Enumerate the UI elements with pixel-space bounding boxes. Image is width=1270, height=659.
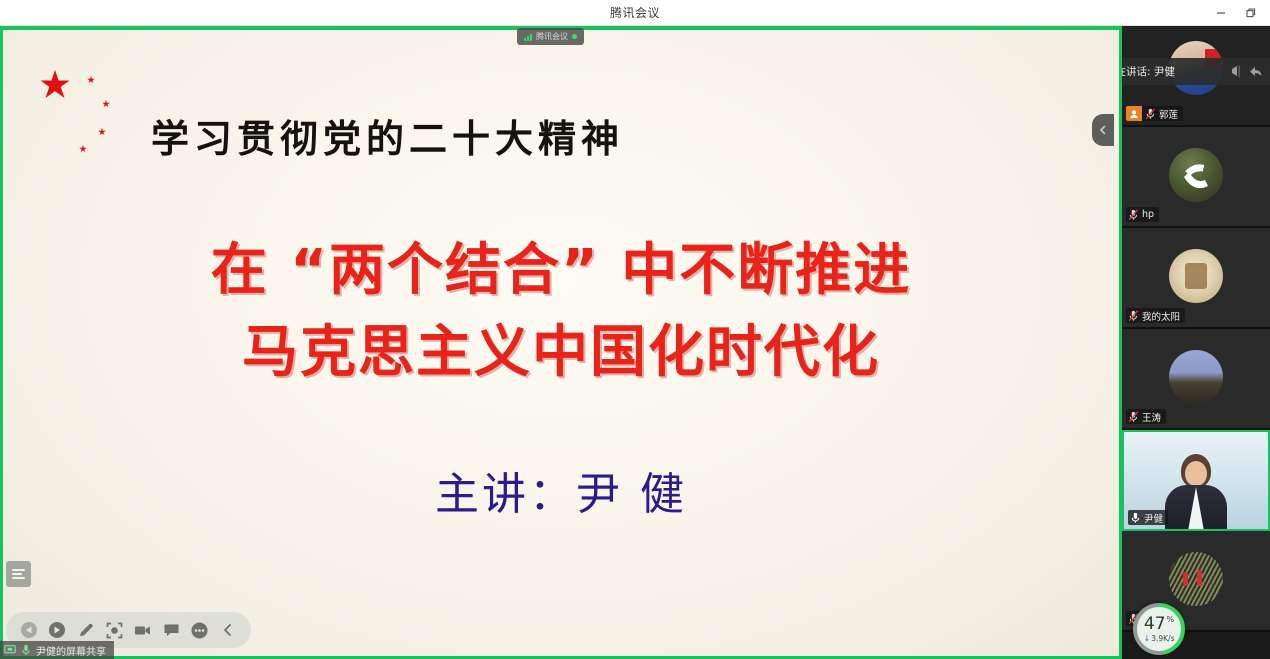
percent-symbol: % xyxy=(1167,615,1175,624)
participant-tile[interactable]: hp xyxy=(1122,127,1270,228)
video-camera-icon[interactable] xyxy=(130,616,156,644)
more-dots-icon[interactable] xyxy=(187,616,213,644)
shared-screen-region[interactable]: 学习贯彻党的二十大精神 在 “两个结合” 中不断推进 马克思主义中国化时代化 主… xyxy=(0,26,1122,659)
window-title: 腾讯会议 xyxy=(0,0,1270,26)
screen-share-status-label: 尹健的屏幕共享 xyxy=(36,643,106,658)
focus-frame-icon[interactable] xyxy=(102,616,128,644)
window-controls xyxy=(1206,0,1266,26)
restore-button[interactable] xyxy=(1236,1,1266,25)
minimize-button[interactable] xyxy=(1206,1,1236,25)
participant-name-chip: 王涛 xyxy=(1126,409,1166,424)
participant-name-chip: 尹健 xyxy=(1128,510,1168,525)
tencent-meeting-window: 腾讯会议 xyxy=(0,0,1270,659)
participant-tile[interactable]: 王涛 xyxy=(1122,329,1270,430)
microphone-muted-icon xyxy=(1128,310,1139,322)
meeting-pill-label: 腾讯会议 xyxy=(536,31,568,42)
slide-header-text: 学习贯彻党的二十大精神 xyxy=(151,108,624,163)
screen-share-icon xyxy=(4,644,16,656)
collapse-arrow-icon xyxy=(1230,65,1245,78)
participant-name-chip: 我的太阳 xyxy=(1126,308,1185,323)
participant-name-chip: 郭莲 xyxy=(1126,106,1183,121)
banner-arrow-controls[interactable] xyxy=(1230,65,1263,78)
list-menu-bars xyxy=(12,567,25,581)
pencil-icon[interactable] xyxy=(73,616,99,644)
microphone-muted-icon xyxy=(1128,411,1139,423)
chevron-left-icon xyxy=(1097,124,1109,136)
avatar xyxy=(1169,148,1223,202)
slide-title-line-1: 在 “两个结合” 中不断推进 xyxy=(3,230,1119,312)
participant-name: 我的太阳 xyxy=(1142,309,1180,323)
participant-name: 王涛 xyxy=(1142,410,1161,424)
participant-tile-active-speaker[interactable]: 尹健 xyxy=(1122,430,1270,531)
avatar xyxy=(1169,249,1223,303)
download-arrow-icon: ↓ xyxy=(1144,635,1151,643)
download-speed: ↓ 3.9K/s xyxy=(1144,635,1175,643)
slide-presenter-text: 主讲：尹 健 xyxy=(3,458,1119,522)
list-menu-icon[interactable] xyxy=(6,561,31,587)
microphone-icon xyxy=(1130,512,1141,524)
avatar xyxy=(1169,552,1223,606)
download-progress-indicator[interactable]: 47% ↓ 3.9K/s xyxy=(1133,603,1185,655)
china-flag-star-emblem xyxy=(13,50,143,155)
active-speaker-banner: 正在讲话: 尹健 xyxy=(1122,58,1270,85)
participant-name-chip: hp xyxy=(1126,207,1159,222)
microphone-muted-icon xyxy=(1128,209,1139,221)
participant-name: 尹健 xyxy=(1144,511,1163,525)
presentation-slide: 学习贯彻党的二十大精神 在 “两个结合” 中不断推进 马克思主义中国化时代化 主… xyxy=(3,30,1119,656)
signal-bars-icon xyxy=(524,33,532,41)
play-forward-icon[interactable] xyxy=(45,616,71,644)
microphone-icon xyxy=(21,644,31,656)
slide-main-title: 在 “两个结合” 中不断推进 马克思主义中国化时代化 xyxy=(3,230,1119,394)
slide-title-line-2: 马克思主义中国化时代化 xyxy=(3,312,1119,394)
participant-sidebar[interactable]: 郭莲 hp xyxy=(1122,26,1270,659)
collapse-sidebar-button[interactable] xyxy=(1092,114,1114,146)
download-percent-value: 47 xyxy=(1144,614,1166,634)
participant-tile[interactable]: 我的太阳 xyxy=(1122,228,1270,329)
participant-name: 郭莲 xyxy=(1159,107,1178,121)
back-arrow-icon xyxy=(1249,65,1263,78)
download-progress-inner: 47% ↓ 3.9K/s xyxy=(1137,607,1181,651)
download-speed-value: 3.9K/s xyxy=(1151,635,1174,643)
collapse-toolbar-button[interactable] xyxy=(216,616,242,644)
chat-bubble-icon[interactable] xyxy=(159,616,185,644)
recording-dot-icon xyxy=(572,34,577,39)
host-badge-icon xyxy=(1126,106,1142,121)
microphone-muted-icon xyxy=(1145,108,1156,120)
meeting-indicator-pill[interactable]: 腾讯会议 xyxy=(517,28,584,45)
play-back-icon[interactable] xyxy=(16,616,42,644)
screen-share-status: 尹健的屏幕共享 xyxy=(0,641,114,659)
avatar xyxy=(1169,350,1223,404)
title-bar: 腾讯会议 xyxy=(0,0,1270,26)
participant-name: hp xyxy=(1142,209,1154,220)
active-speaker-label: 正在讲话: 尹健 xyxy=(1122,64,1175,79)
download-percent: 47% xyxy=(1144,616,1174,633)
